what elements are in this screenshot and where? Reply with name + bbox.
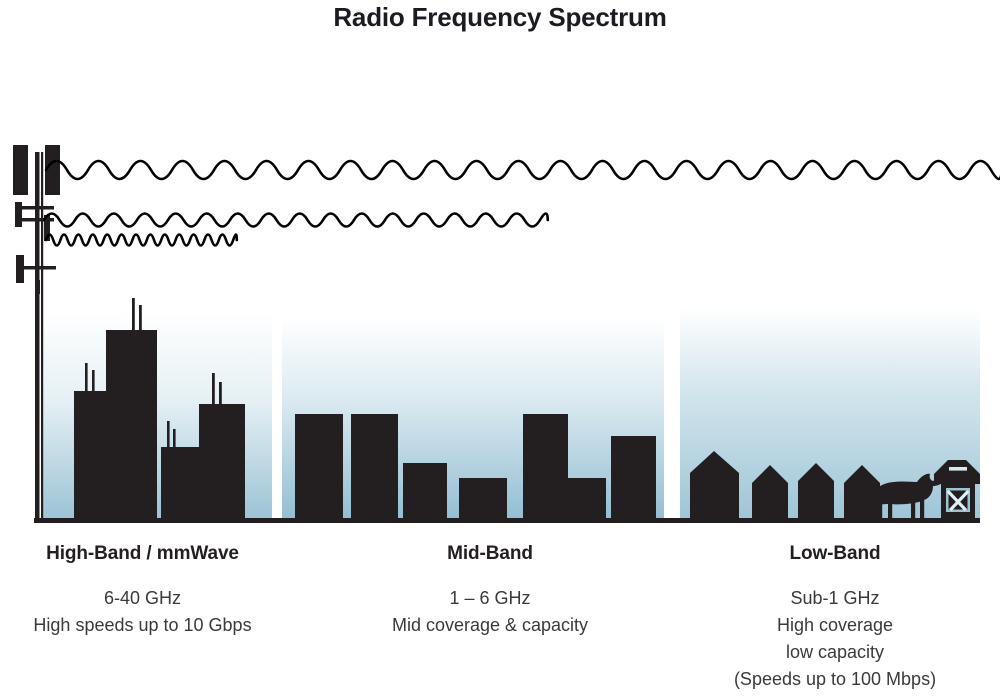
band-line-mid-band-1: Mid coverage & capacity bbox=[345, 612, 635, 639]
band-line-high-band-0: 6-40 GHz bbox=[0, 585, 285, 612]
rural-house bbox=[752, 465, 788, 520]
band-line-mid-band-0: 1 – 6 GHz bbox=[345, 585, 635, 612]
band-line-low-band-3: (Speeds up to 100 Mbps) bbox=[690, 666, 980, 693]
barn-icon bbox=[934, 460, 980, 520]
rural-house bbox=[798, 463, 834, 520]
cow-icon bbox=[867, 474, 942, 519]
spectrum-scene bbox=[0, 130, 1000, 530]
page-title: Radio Frequency Spectrum bbox=[0, 2, 1000, 33]
band-column-mid-band: Mid-Band 1 – 6 GHz Mid coverage & capaci… bbox=[345, 543, 635, 639]
band-title-low-band: Low-Band bbox=[690, 543, 980, 565]
band-title-mid-band: Mid-Band bbox=[345, 543, 635, 565]
rural-house bbox=[690, 451, 739, 520]
infographic-canvas: Radio Frequency Spectrum bbox=[0, 0, 1000, 700]
band-title-high-band: High-Band / mmWave bbox=[0, 543, 285, 565]
band-column-high-band: High-Band / mmWave 6-40 GHz High speeds … bbox=[0, 543, 285, 639]
band-line-low-band-0: Sub-1 GHz bbox=[690, 585, 980, 612]
band-line-high-band-1: High speeds up to 10 Gbps bbox=[0, 612, 285, 639]
band-line-low-band-2: low capacity bbox=[690, 639, 980, 666]
band-column-low-band: Low-Band Sub-1 GHz High coverage low cap… bbox=[690, 543, 980, 693]
band-labels: High-Band / mmWave 6-40 GHz High speeds … bbox=[0, 543, 1000, 700]
band-line-low-band-1: High coverage bbox=[690, 612, 980, 639]
scenery-low-band bbox=[0, 130, 1000, 530]
ground-line bbox=[34, 518, 980, 523]
